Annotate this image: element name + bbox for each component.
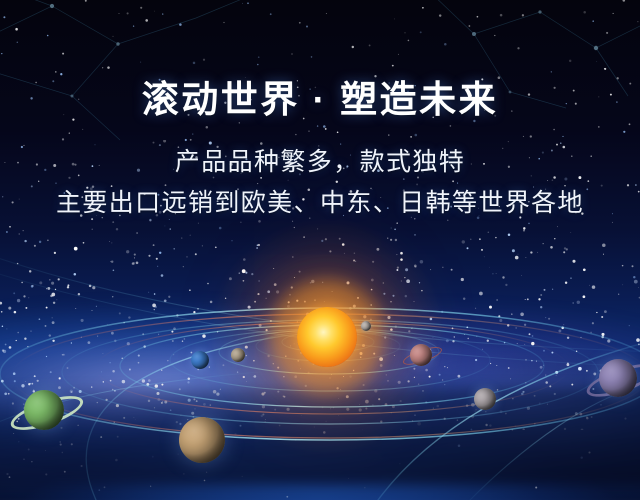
saturn-purple-ringed bbox=[599, 359, 637, 397]
jupiter-tan bbox=[179, 417, 225, 463]
page-title: 滚动世界 · 塑造未来 bbox=[0, 0, 640, 122]
banner-copy: 滚动世界 · 塑造未来 产品品种繁多，款式独特 主要出口远销到欧美、中东、日韩等… bbox=[0, 0, 640, 216]
subtitle-line-1: 产品品种繁多，款式独特 bbox=[0, 122, 640, 175]
banner-stage: 滚动世界 · 塑造未来 产品品种繁多，款式独特 主要出口远销到欧美、中东、日韩等… bbox=[0, 0, 640, 500]
venus-grey bbox=[474, 388, 496, 410]
uranus-green-ringed bbox=[24, 390, 64, 430]
moon-small-grey bbox=[361, 321, 371, 331]
mars-pink-ringed bbox=[410, 344, 432, 366]
earth-blue bbox=[191, 351, 209, 369]
mercury-grey bbox=[231, 348, 245, 362]
subtitle-line-2: 主要出口远销到欧美、中东、日韩等世界各地 bbox=[0, 175, 640, 216]
